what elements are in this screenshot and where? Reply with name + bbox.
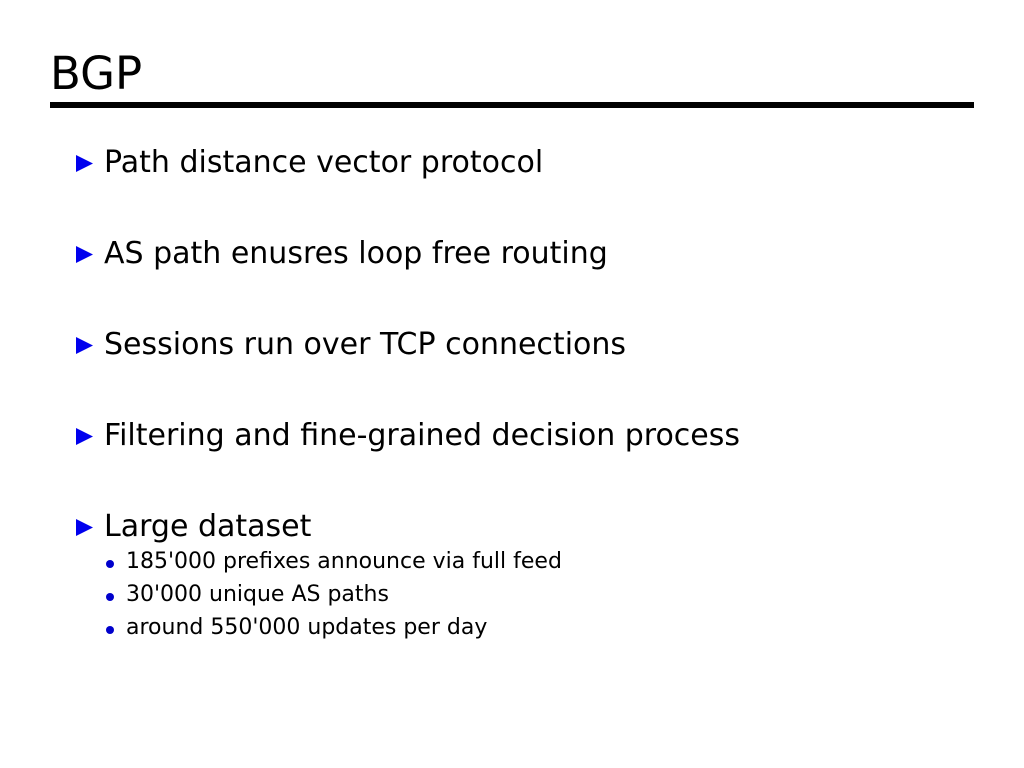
page-title: BGP <box>50 48 974 100</box>
title-divider <box>50 102 974 108</box>
list-item: AS path enusres loop free routing <box>74 237 994 328</box>
slide-header: BGP <box>50 48 974 108</box>
list-item: Filtering and fine-grained decision proc… <box>74 419 994 510</box>
bullet-label: Path distance vector protocol <box>104 146 543 178</box>
triangle-right-icon <box>74 237 95 267</box>
bullet-line: Sessions run over TCP connections <box>74 328 626 360</box>
bullet-label: Large dataset <box>104 510 311 542</box>
sub-bullet-list: 185'000 prefixes announce via full feed … <box>105 550 994 649</box>
triangle-right-icon <box>74 510 95 540</box>
sub-list-item: around 550'000 updates per day <box>105 616 994 649</box>
list-item: Path distance vector protocol <box>74 146 994 237</box>
bullet-line: AS path enusres loop free routing <box>74 237 608 269</box>
triangle-right-icon <box>74 419 95 449</box>
bullet-line: Large dataset <box>74 510 994 542</box>
bullet-line: Path distance vector protocol <box>74 146 543 178</box>
sub-bullet-label: 30'000 unique AS paths <box>126 583 389 607</box>
sub-bullet-label: 185'000 prefixes announce via full feed <box>126 550 562 574</box>
dot-icon <box>105 616 126 640</box>
bullet-label: Filtering and fine-grained decision proc… <box>104 419 740 451</box>
list-item: Sessions run over TCP connections <box>74 328 994 419</box>
bullet-label: AS path enusres loop free routing <box>104 237 608 269</box>
slide: BGP Path distance vector protocol <box>0 0 1024 768</box>
slide-body: Path distance vector protocol AS path en… <box>74 146 994 649</box>
dot-icon <box>105 583 126 607</box>
list-item: Large dataset 185'000 prefixes announce … <box>74 510 994 649</box>
sub-bullet-label: around 550'000 updates per day <box>126 616 487 640</box>
dot-icon <box>105 550 126 574</box>
sub-list-item: 30'000 unique AS paths <box>105 583 994 616</box>
bullet-line: Filtering and fine-grained decision proc… <box>74 419 740 451</box>
triangle-right-icon <box>74 328 95 358</box>
bullet-label: Sessions run over TCP connections <box>104 328 626 360</box>
triangle-right-icon <box>74 146 95 176</box>
sub-list-item: 185'000 prefixes announce via full feed <box>105 550 994 583</box>
